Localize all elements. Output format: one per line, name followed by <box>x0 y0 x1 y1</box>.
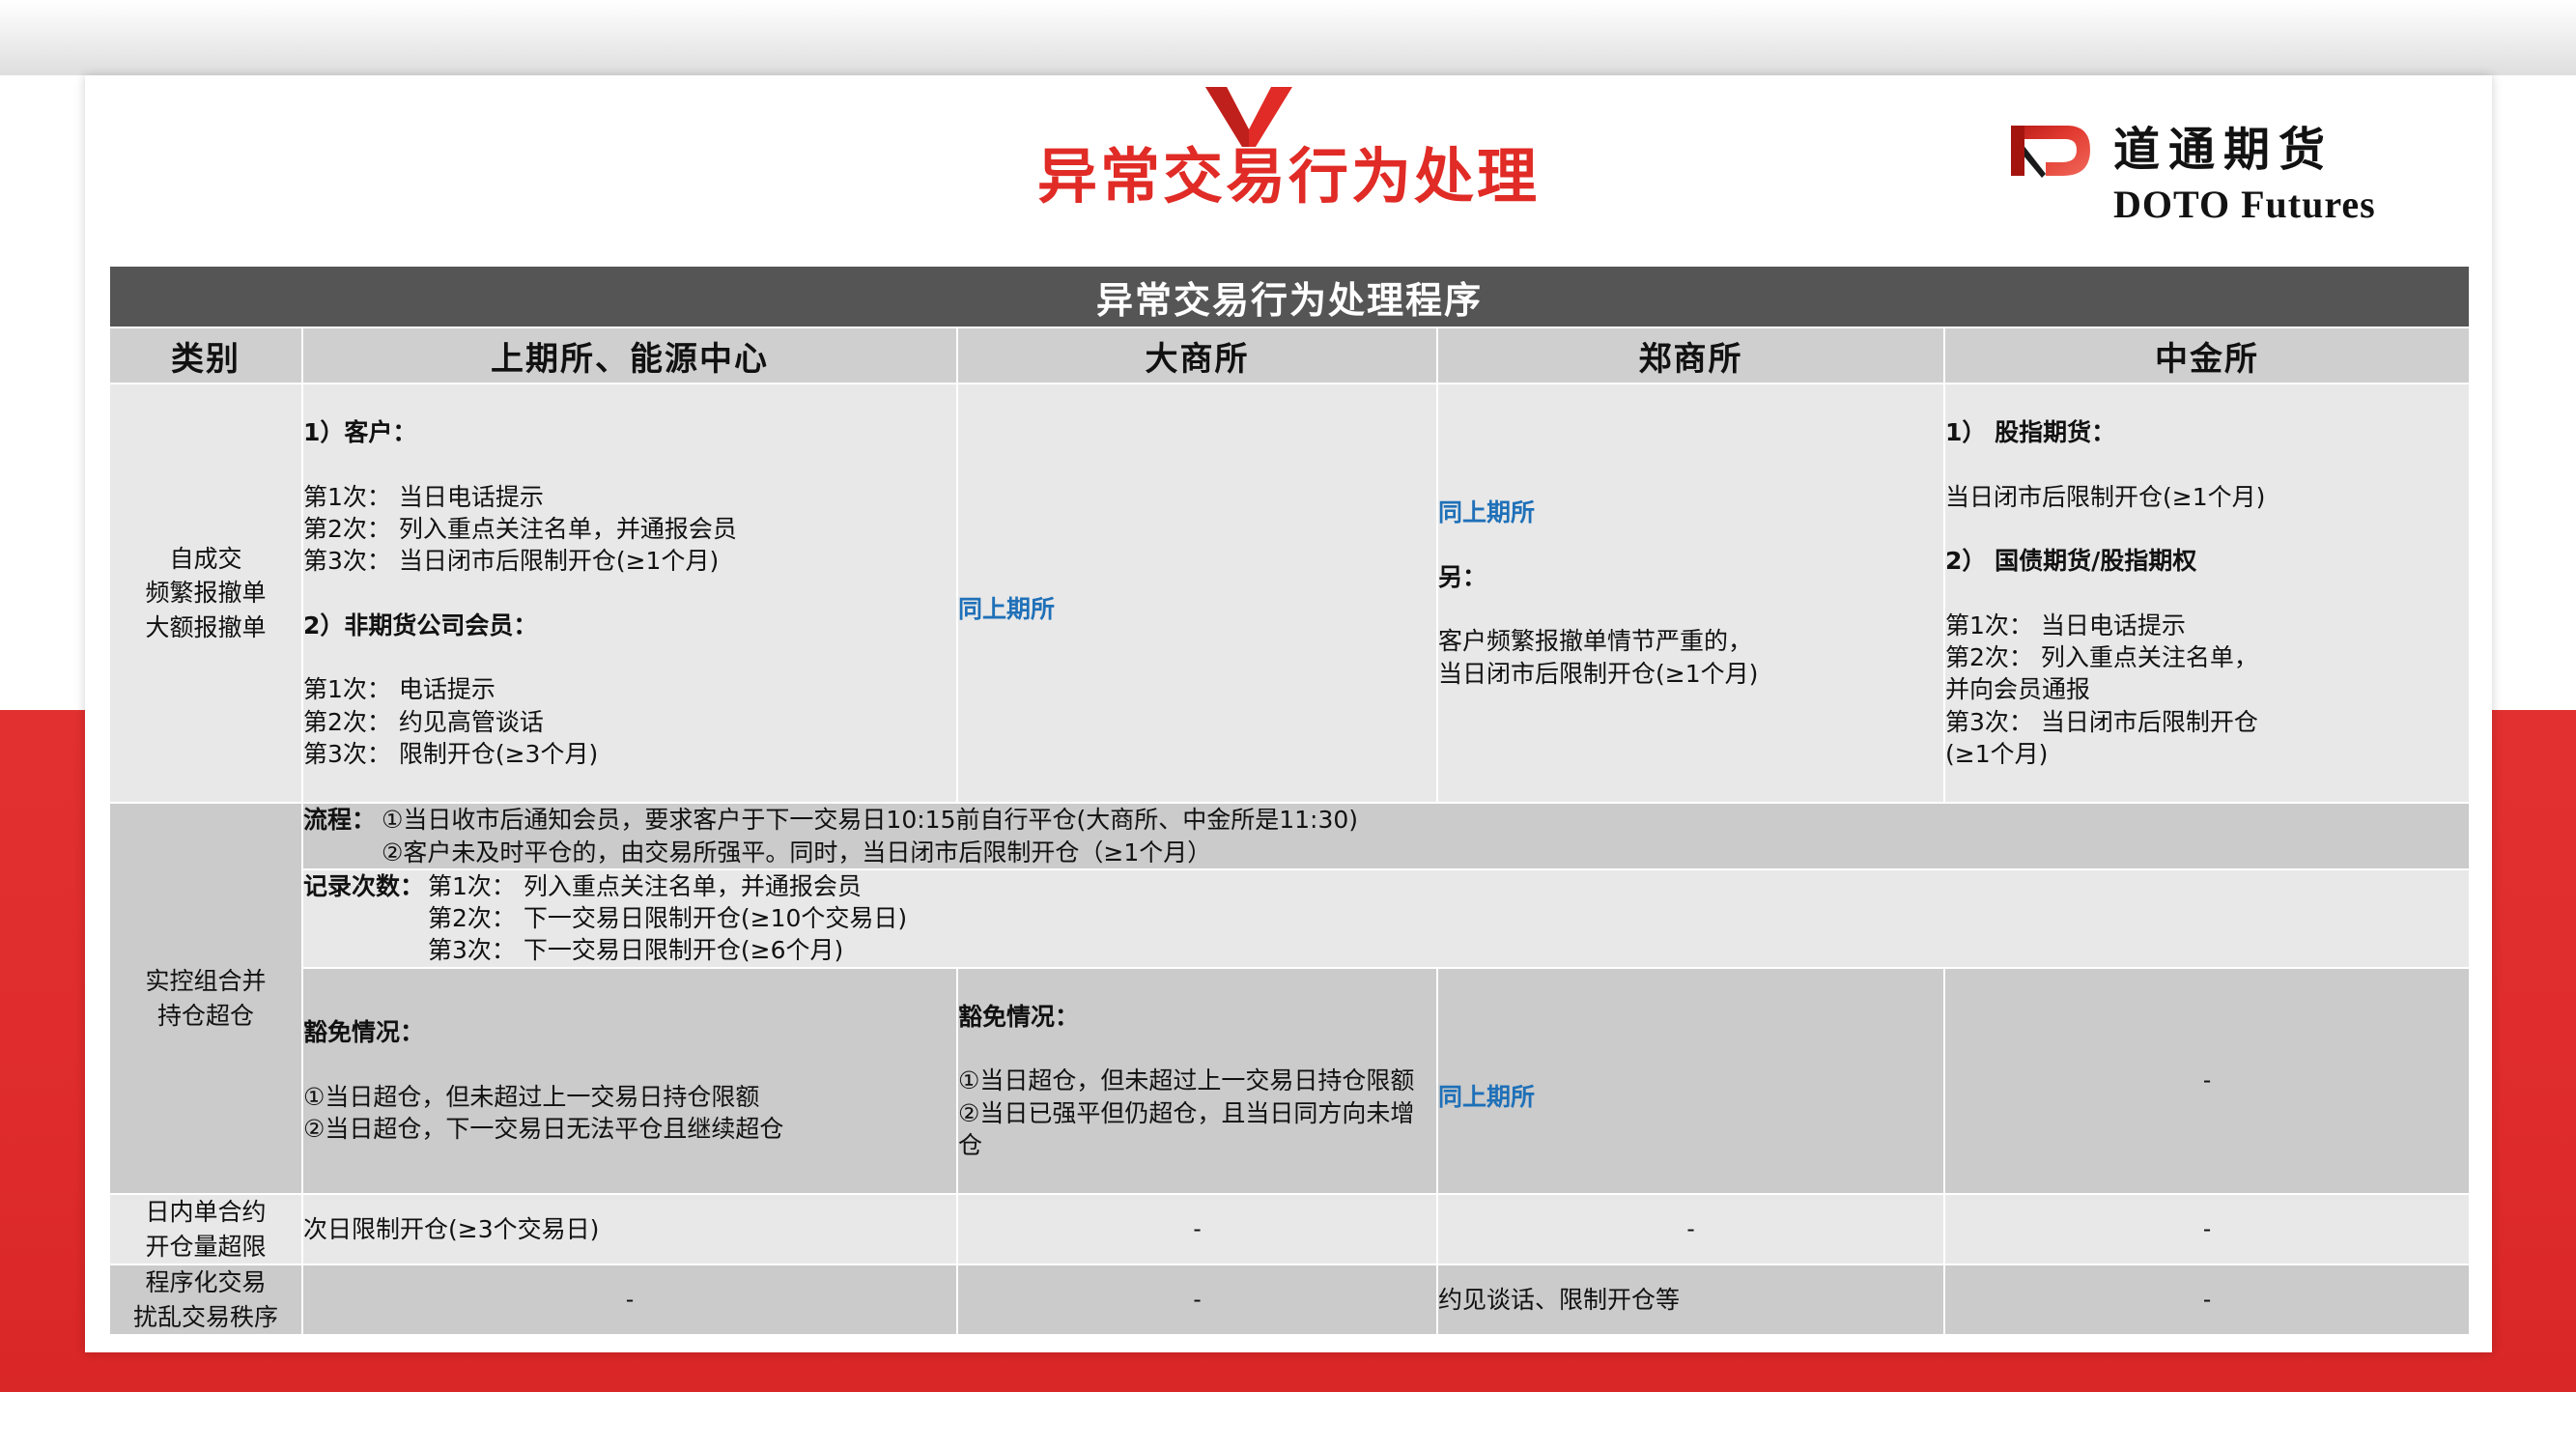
count-text: 第1次： 列入重点关注名单，并通报会员 第2次： 下一交易日限制开仓(≥10个交… <box>424 870 907 967</box>
cell-dce-exemption: 豁免情况： ①当日超仓，但未超过上一交易日持仓限额 ②当日已强平但仍超仓，且当日… <box>957 968 1437 1195</box>
dce-exemption-text: ①当日超仓，但未超过上一交易日持仓限额 ②当日已强平但仍超仓，且当日同方向未增仓 <box>958 1065 1436 1161</box>
table-row: 记录次数：第1次： 列入重点关注名单，并通报会员 第2次： 下一交易日限制开仓(… <box>109 869 2470 968</box>
table-row: 自成交 频繁报撤单 大额报撤单 1）客户： 第1次： 当日电话提示 第2次： 列… <box>109 384 2470 803</box>
czce-additional-text: 客户频繁报撤单情节严重的， 当日闭市后限制开仓(≥1个月) <box>1438 625 1943 690</box>
row-label-program-trading: 程序化交易 扰乱交易秩序 <box>109 1264 302 1335</box>
table-row: 程序化交易 扰乱交易秩序 - - 约见谈话、限制开仓等 - <box>109 1264 2470 1335</box>
cffex-bond-options-lines: 第1次： 当日电话提示 第2次： 列入重点关注名单， 并向会员通报 第3次： 当… <box>1945 610 2469 770</box>
cell-shfe-exemption: 豁免情况： ①当日超仓，但未超过上一交易日持仓限额 ②当日超仓，下一交易日无法平… <box>302 968 957 1195</box>
column-header-czce: 郑商所 <box>1437 327 1944 384</box>
cell-dce-intraday-open: - <box>957 1194 1437 1264</box>
flow-label: 流程： <box>303 804 376 836</box>
column-header-category: 类别 <box>109 327 302 384</box>
logo-chinese-name: 道通期货 <box>2113 127 2334 173</box>
table-banner-row: 异常交易行为处理程序 <box>109 266 2470 327</box>
cell-position-limit-count: 记录次数：第1次： 列入重点关注名单，并通报会员 第2次： 下一交易日限制开仓(… <box>302 869 2470 968</box>
column-header-shfe: 上期所、能源中心 <box>302 327 957 384</box>
abnormal-trading-procedure-table: 异常交易行为处理程序 类别 上期所、能源中心 大商所 郑商所 中金所 自成交 频… <box>108 265 2471 1336</box>
shfe-client-lines: 第1次： 当日电话提示 第2次： 列入重点关注名单，并通报会员 第3次： 当日闭… <box>303 481 956 578</box>
flow-text: ①当日收市后通知会员，要求客户于下一交易日10:15前自行平仓(大商所、中金所是… <box>376 804 1358 868</box>
shfe-client-title: 1）客户： <box>303 416 956 448</box>
shfe-nonfutures-lines: 第1次： 电话提示 第2次： 约见高管谈话 第3次： 限制开仓(≥3个月) <box>303 673 956 770</box>
cell-cffex-program-trading: - <box>1944 1264 2470 1335</box>
cell-shfe-self-trade: 1）客户： 第1次： 当日电话提示 第2次： 列入重点关注名单，并通报会员 第3… <box>302 384 957 803</box>
table-banner: 异常交易行为处理程序 <box>109 266 2470 327</box>
logo-row: 道通期货 <box>2007 120 2334 180</box>
cell-shfe-intraday-open: 次日限制开仓(≥3个交易日) <box>302 1194 957 1264</box>
background-top-gradient <box>0 0 2576 75</box>
table-row: 豁免情况： ①当日超仓，但未超过上一交易日持仓限额 ②当日超仓，下一交易日无法平… <box>109 968 2470 1195</box>
czce-same-as-shfe: 同上期所 <box>1438 497 1943 528</box>
table-header-row: 类别 上期所、能源中心 大商所 郑商所 中金所 <box>109 327 2470 384</box>
czce-additional-label: 另： <box>1438 561 1943 593</box>
cell-czce-intraday-open: - <box>1437 1194 1944 1264</box>
cell-cffex-intraday-open: - <box>1944 1194 2470 1264</box>
row-label-intraday-open: 日内单合约 开仓量超限 <box>109 1194 302 1264</box>
cell-czce-program-trading: 约见谈话、限制开仓等 <box>1437 1264 1944 1335</box>
column-header-cffex: 中金所 <box>1944 327 2470 384</box>
cell-cffex-self-trade: 1） 股指期货： 当日闭市后限制开仓(≥1个月) 2） 国债期货/股指期权 第1… <box>1944 384 2470 803</box>
cell-dce-self-trade: 同上期所 <box>957 384 1437 803</box>
logo-english-name: DOTO Futures <box>2113 185 2376 224</box>
shfe-exemption-text: ①当日超仓，但未超过上一交易日持仓限额 ②当日超仓，下一交易日无法平仓且继续超仓 <box>303 1081 956 1146</box>
cell-czce-exemption: 同上期所 <box>1437 968 1944 1195</box>
cffex-bond-options-title: 2） 国债期货/股指期权 <box>1945 545 2469 577</box>
cell-dce-program-trading: - <box>957 1264 1437 1335</box>
czce-exemption-same-as-shfe: 同上期所 <box>1438 1083 1535 1111</box>
shfe-exemption-label: 豁免情况： <box>303 1016 956 1048</box>
cell-position-limit-flow: 流程：①当日收市后通知会员，要求客户于下一交易日10:15前自行平仓(大商所、中… <box>302 803 2470 869</box>
table-row: 实控组合并 持仓超仓 流程：①当日收市后通知会员，要求客户于下一交易日10:15… <box>109 803 2470 869</box>
cell-czce-self-trade: 同上期所 另： 客户频繁报撤单情节严重的， 当日闭市后限制开仓(≥1个月) <box>1437 384 1944 803</box>
company-logo: 道通期货 DOTO Futures <box>2007 114 2471 230</box>
background-bottom-white <box>0 1392 2576 1449</box>
cell-shfe-program-trading: - <box>302 1264 957 1335</box>
doto-arrow-logo-icon <box>2007 120 2096 180</box>
shfe-nonfutures-title: 2）非期货公司会员： <box>303 610 956 641</box>
row-label-self-trade: 自成交 频繁报撤单 大额报撤单 <box>109 384 302 803</box>
column-header-dce: 大商所 <box>957 327 1437 384</box>
dce-exemption-label: 豁免情况： <box>958 1001 1436 1033</box>
cffex-index-futures-title: 1） 股指期货： <box>1945 416 2469 448</box>
red-v-chevron-icon <box>1205 87 1292 147</box>
cell-cffex-exemption: - <box>1944 968 2470 1195</box>
cffex-index-futures-lines: 当日闭市后限制开仓(≥1个月) <box>1945 481 2469 513</box>
row-label-position-limit: 实控组合并 持仓超仓 <box>109 803 302 1194</box>
slide-card: 异常交易行为处理 <box>85 75 2492 1352</box>
slide-header: 异常交易行为处理 <box>85 75 2492 280</box>
table-row: 日内单合约 开仓量超限 次日限制开仓(≥3个交易日) - - - <box>109 1194 2470 1264</box>
count-label: 记录次数： <box>303 870 424 902</box>
page-title: 异常交易行为处理 <box>1037 147 1540 207</box>
dce-same-as-shfe: 同上期所 <box>958 595 1055 623</box>
